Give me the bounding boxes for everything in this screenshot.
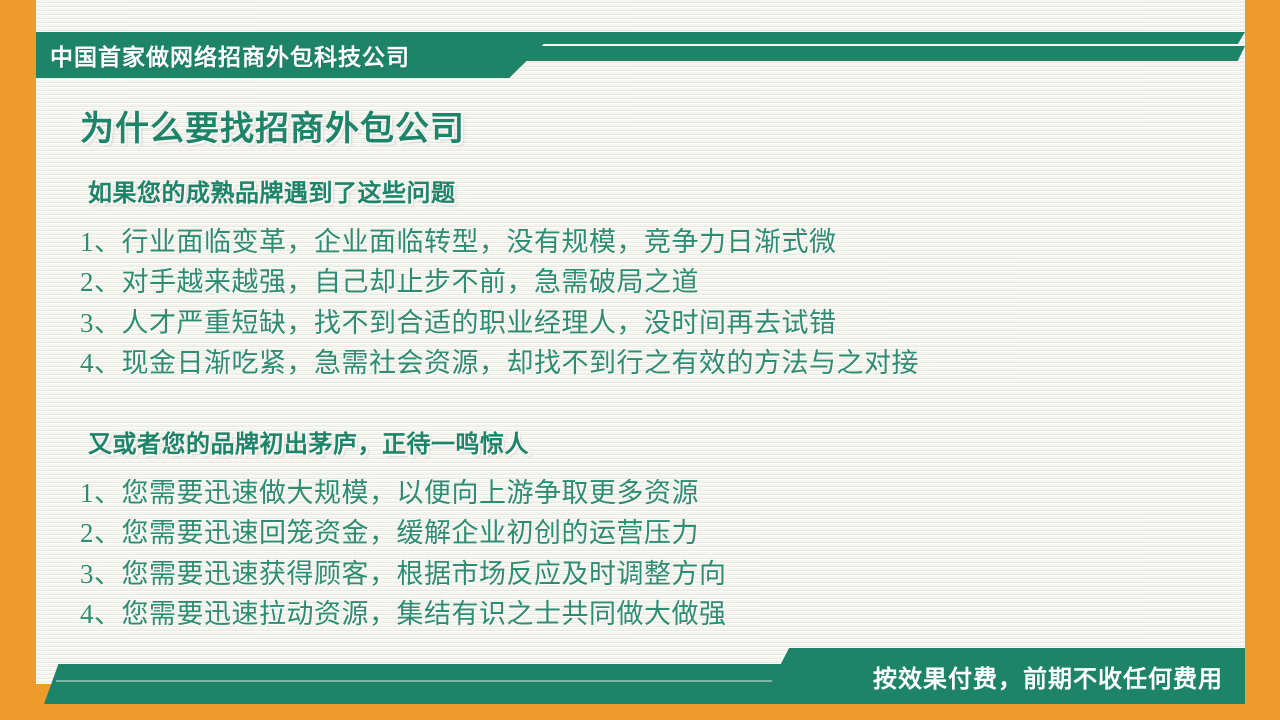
- header-accent-line-upper: [526, 32, 1245, 44]
- list-item: 4、您需要迅速拉动资源，集结有识之士共同做大做强: [80, 594, 1220, 635]
- footer-hairline: [56, 680, 801, 682]
- header-accent-line-lower: [514, 46, 1245, 61]
- list-item: 2、对手越来越强，自己却止步不前，急需破局之道: [80, 262, 1220, 303]
- list-item: 3、人才严重短缺，找不到合适的职业经理人，没时间再去试错: [80, 303, 1220, 344]
- problem-list: 1、行业面临变革，企业面临转型，没有规模，竞争力日渐式微 2、对手越来越强，自己…: [80, 222, 1220, 384]
- list-item: 2、您需要迅速回笼资金，缓解企业初创的运营压力: [80, 513, 1220, 554]
- footer-tagline-shape: 按效果付费，前期不收任何费用: [760, 648, 1245, 704]
- section-heading: 又或者您的品牌初出茅庐，正待一鸣惊人: [88, 424, 1220, 459]
- need-list: 1、您需要迅速做大规模，以便向上游争取更多资源 2、您需要迅速回笼资金，缓解企业…: [80, 473, 1220, 635]
- section-heading: 如果您的成熟品牌遇到了这些问题: [88, 173, 1220, 208]
- footer-banner: 按效果付费，前期不收任何费用: [0, 648, 1280, 720]
- section-mature-brand: 如果您的成熟品牌遇到了这些问题 1、行业面临变革，企业面临转型，没有规模，竞争力…: [80, 173, 1220, 384]
- header-tag-shape: 中国首家做网络招商外包科技公司: [36, 32, 556, 78]
- list-item: 4、现金日渐吃紧，急需社会资源，却找不到行之有效的方法与之对接: [80, 343, 1220, 384]
- header-tag-label: 中国首家做网络招商外包科技公司: [50, 38, 410, 72]
- list-item: 1、行业面临变革，企业面临转型，没有规模，竞争力日渐式微: [80, 222, 1220, 263]
- list-item: 3、您需要迅速获得顾客，根据市场反应及时调整方向: [80, 554, 1220, 595]
- list-item: 1、您需要迅速做大规模，以便向上游争取更多资源: [80, 473, 1220, 514]
- header-banner: 中国首家做网络招商外包科技公司: [36, 32, 1245, 78]
- slide-root: 中国首家做网络招商外包科技公司 为什么要找招商外包公司 如果您的成熟品牌遇到了这…: [0, 0, 1280, 720]
- page-title: 为什么要找招商外包公司: [80, 108, 1220, 151]
- section-new-brand: 又或者您的品牌初出茅庐，正待一鸣惊人 1、您需要迅速做大规模，以便向上游争取更多…: [80, 424, 1220, 635]
- content-area: 为什么要找招商外包公司 如果您的成熟品牌遇到了这些问题 1、行业面临变革，企业面…: [80, 108, 1220, 639]
- footer-tagline-label: 按效果付费，前期不收任何费用: [873, 659, 1223, 694]
